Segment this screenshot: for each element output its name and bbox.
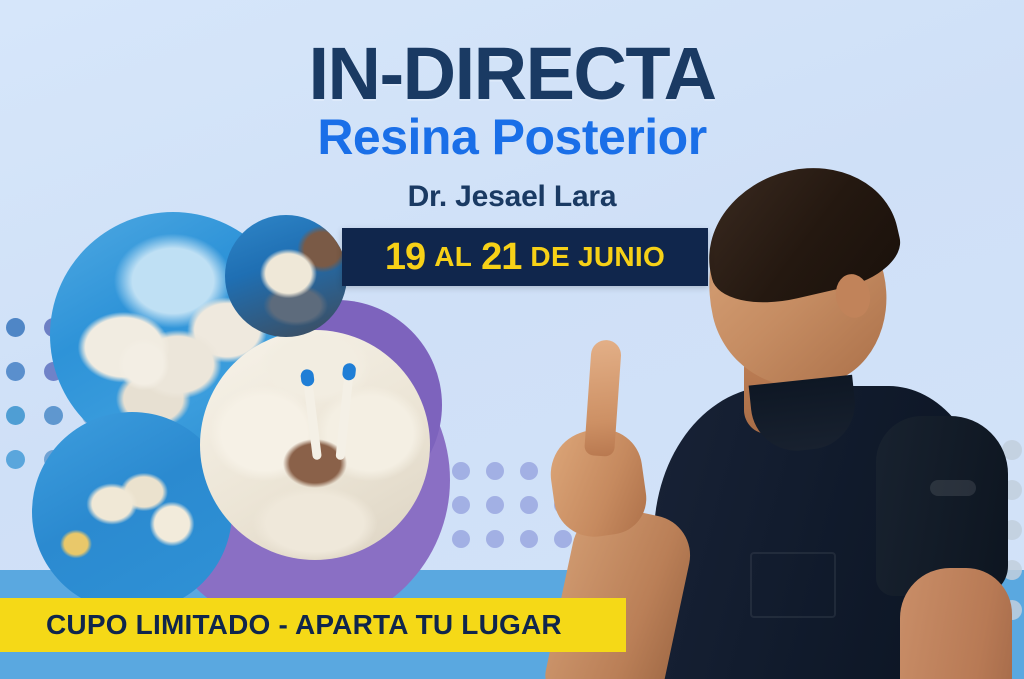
event-date-banner: 19 AL 21 DE JUNIO [342, 228, 708, 286]
decor-dot [452, 496, 470, 514]
decor-dot [452, 530, 470, 548]
clinical-photo-restauracion-matriz [225, 215, 347, 337]
date-month-label: DE JUNIO [530, 241, 665, 273]
decor-dot [486, 462, 504, 480]
promo-poster: IN-DIRECTA Resina Posterior Dr. Jesael L… [0, 0, 1024, 679]
cta-label: CUPO LIMITADO - APARTA TU LUGAR [0, 609, 562, 641]
decor-dot [6, 450, 25, 469]
page-title: IN-DIRECTA [0, 38, 1024, 109]
decor-dot [6, 406, 25, 425]
date-day-start: 19 [385, 236, 425, 279]
clinical-photo-cavidad-aplicadores [200, 330, 430, 560]
decor-dot [486, 496, 504, 514]
date-connector: AL [434, 241, 472, 273]
doctor-chest-pocket [750, 552, 836, 618]
decor-dot [486, 530, 504, 548]
photo-fill [225, 215, 347, 337]
doctor-lower-arm [900, 568, 1012, 679]
date-day-end: 21 [481, 236, 521, 279]
decor-dot [452, 462, 470, 480]
sleeve-logo-icon [930, 480, 976, 496]
cta-banner[interactable]: CUPO LIMITADO - APARTA TU LUGAR [0, 598, 626, 652]
decor-dot [6, 318, 25, 337]
decor-dot [6, 362, 25, 381]
